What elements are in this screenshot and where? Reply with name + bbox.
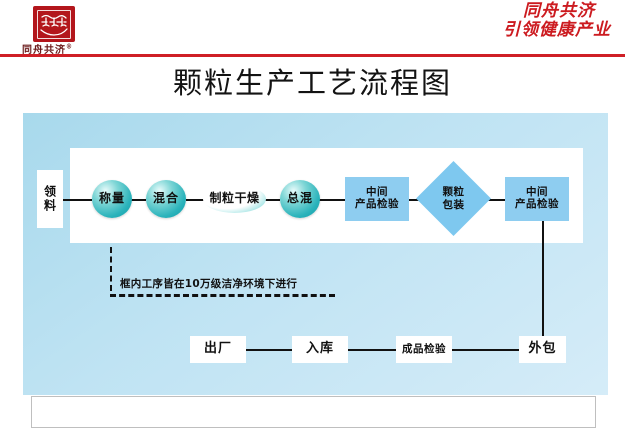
connector-zonghun-jianyan1	[319, 199, 345, 201]
connector-chengpinjianyan-waibao	[452, 349, 519, 351]
node-chuchang[interactable]: 出厂	[190, 336, 246, 363]
slogan-line-1: 同舟共济	[431, 2, 611, 21]
node-label-line2: 产品检验	[515, 199, 559, 211]
footer-placeholder-box	[31, 396, 596, 428]
annotation-bracket-vertical	[110, 247, 112, 291]
node-lingliao[interactable]: 领料	[37, 170, 63, 228]
connector-ruku-chengpinjianyan	[348, 349, 396, 351]
connector-zhiliganzao-zonghun	[265, 199, 280, 201]
connector-chuchang-ruku	[245, 349, 292, 351]
node-label-line2: 产品检验	[355, 199, 399, 211]
node-zhongjian-chanpin-jianyan-2[interactable]: 中间 产品检验	[505, 177, 569, 221]
node-waibao[interactable]: 外包	[519, 336, 566, 363]
page-title: 颗粒生产工艺流程图	[0, 60, 625, 102]
node-chengpin-jianyan[interactable]: 成品检验	[396, 336, 452, 363]
node-zonghun[interactable]: 总混	[280, 180, 320, 218]
clean-room-note: 框内工序皆在10万级洁净环境下进行	[120, 276, 297, 291]
connector-hunhe-zhiliganzao	[186, 199, 204, 201]
annotation-bracket-horizontal	[110, 294, 335, 297]
node-label-line1: 颗粒	[443, 186, 465, 198]
node-label-line2: 包装	[443, 199, 465, 211]
slogan: 同舟共济 引领健康产业	[431, 2, 611, 40]
diamond-label: 颗粒 包装	[427, 172, 480, 225]
node-keli-baozhuang[interactable]: 颗粒 包装	[427, 172, 480, 225]
node-zhongjian-chanpin-jianyan-1[interactable]: 中间 产品检验	[345, 177, 409, 221]
node-ruku[interactable]: 入库	[292, 336, 348, 363]
seal-script-glyphs-icon	[37, 10, 71, 39]
company-seal-logo-icon	[33, 6, 75, 42]
node-hunhe[interactable]: 混合	[146, 180, 186, 218]
connector-lingliao-chengliang	[63, 199, 92, 201]
slide-canvas: 同舟共济® 同舟共济 引领健康产业 颗粒生产工艺流程图 领料 称量 混合 制粒干…	[0, 0, 625, 430]
connector-jianyan2-waibao	[542, 221, 544, 343]
slogan-line-2: 引领健康产业	[431, 21, 611, 40]
node-chengliang[interactable]: 称量	[92, 180, 132, 218]
node-zhiliganzao[interactable]: 制粒干燥	[203, 185, 266, 213]
registered-mark: ®	[66, 44, 73, 51]
connector-chengliang-hunhe	[131, 199, 146, 201]
header-divider	[0, 54, 625, 57]
